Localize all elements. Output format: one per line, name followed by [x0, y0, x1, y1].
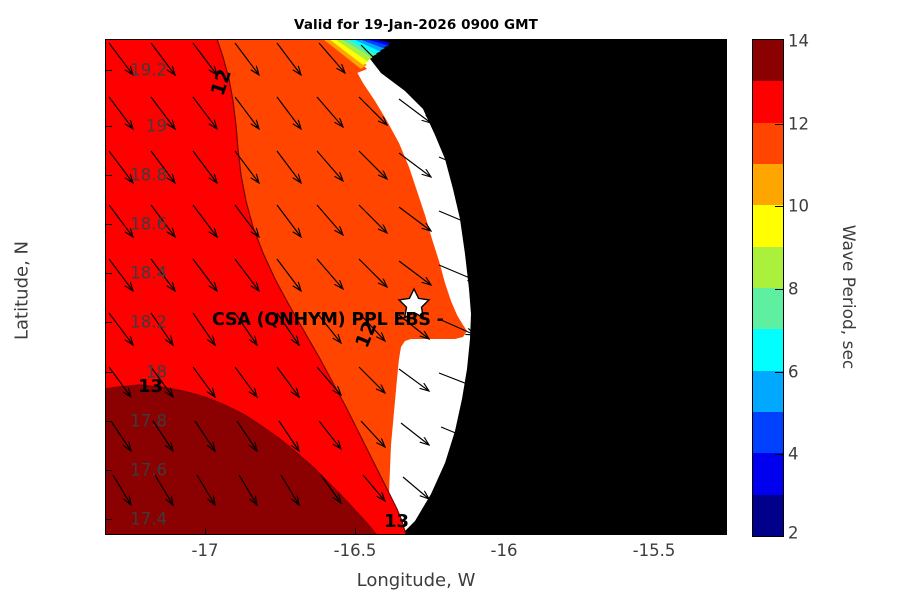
y-tick-mark [105, 322, 112, 323]
x-tick-mark [654, 528, 655, 535]
wave-period-map: 12 12 13 13 [105, 39, 727, 535]
y-axis-label: Latitude, N [12, 181, 33, 401]
x-axis-label: Longitude, W [105, 570, 727, 591]
contour-label-13-bottom: 13 [384, 511, 409, 532]
colorbar-band [753, 81, 783, 122]
y-tick-mark [105, 273, 112, 274]
y-tick-mark [105, 70, 112, 71]
x-tick-label: -16.5 [295, 541, 415, 560]
colorbar-band [753, 123, 783, 164]
colorbar-band [753, 40, 783, 81]
colorbar-tick-mark [775, 124, 783, 125]
x-tick-mark [355, 528, 356, 535]
y-tick-mark [105, 372, 112, 373]
figure-root: Valid for 19-Jan-2026 0900 GMT [0, 0, 900, 600]
colorbar-band [753, 412, 783, 453]
colorbar-tick-label: 8 [788, 280, 799, 299]
y-tick-mark [105, 126, 112, 127]
colorbar-band [753, 329, 783, 370]
colorbar-tick-label: 2 [788, 524, 799, 543]
colorbar-tick-mark [775, 372, 783, 373]
colorbar-tick-mark [775, 206, 783, 207]
colorbar-tick-label: 4 [788, 445, 799, 464]
y-tick-mark [105, 519, 112, 520]
x-tick-label: -16 [444, 541, 564, 560]
y-tick-mark [105, 175, 112, 176]
colorbar-label: Wave Period, sec [838, 177, 858, 417]
colorbar-band [753, 205, 783, 246]
colorbar-tick-label: 10 [788, 197, 809, 216]
colorbar-band [753, 371, 783, 412]
colorbar-tick-label: 12 [788, 115, 809, 134]
station-label: CSA (QNHYM) PPL EBS - [212, 310, 444, 330]
map-plot-area[interactable]: 12 12 13 13 [105, 39, 727, 535]
y-tick-mark [105, 470, 112, 471]
x-tick-mark [504, 528, 505, 535]
colorbar-band [753, 247, 783, 288]
x-tick-label: -15.5 [594, 541, 714, 560]
colorbar[interactable] [752, 39, 784, 537]
colorbar-tick-mark [775, 454, 783, 455]
colorbar-tick-mark [775, 289, 783, 290]
colorbar-band [753, 164, 783, 205]
colorbar-tick-label: 6 [788, 363, 799, 382]
page-title: Valid for 19-Jan-2026 0900 GMT [105, 17, 727, 33]
y-tick-mark [105, 421, 112, 422]
colorbar-band [753, 495, 783, 536]
x-tick-mark [205, 528, 206, 535]
colorbar-tick-label: 14 [788, 32, 809, 51]
colorbar-band [753, 453, 783, 494]
colorbar-band [753, 288, 783, 329]
x-tick-label: -17 [145, 541, 265, 560]
y-tick-mark [105, 224, 112, 225]
